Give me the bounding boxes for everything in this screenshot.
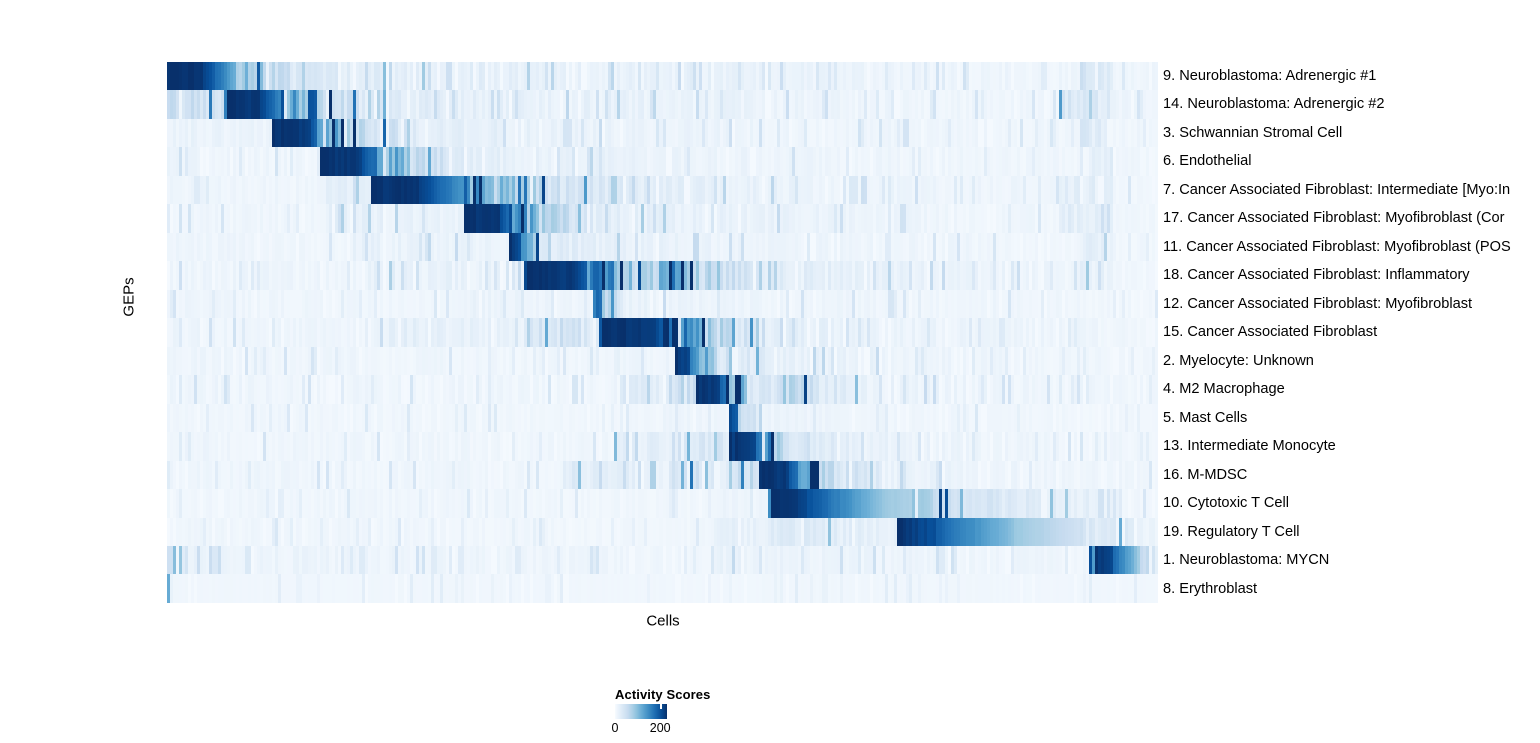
heatmap-figure: GEPs Cells 9. Neuroblastoma: Adrenergic … [0, 0, 1540, 743]
heatmap-row[interactable] [167, 90, 1158, 118]
heatmap-cell [1155, 404, 1158, 432]
heatmap-row[interactable] [167, 204, 1158, 232]
heatmap-row[interactable] [167, 147, 1158, 175]
heatmap-row[interactable] [167, 461, 1158, 489]
heatmap-row[interactable] [167, 290, 1158, 318]
heatmap-row[interactable] [167, 119, 1158, 147]
heatmap-cell [1155, 347, 1158, 375]
heatmap-cell [1155, 119, 1158, 147]
heatmap-row[interactable] [167, 318, 1158, 346]
heatmap-cell [1155, 432, 1158, 460]
heatmap-cell [1155, 461, 1158, 489]
heatmap-cell [1155, 90, 1158, 118]
heatmap-row[interactable] [167, 432, 1158, 460]
heatmap-row[interactable] [167, 261, 1158, 289]
heatmap-cell [1155, 318, 1158, 346]
heatmap-row[interactable] [167, 233, 1158, 261]
heatmap-row[interactable] [167, 176, 1158, 204]
heatmap-cell [1155, 204, 1158, 232]
heatmap-row[interactable] [167, 489, 1158, 517]
heatmap-row[interactable] [167, 347, 1158, 375]
heatmap-cell [1155, 147, 1158, 175]
heatmap-plot-area[interactable] [167, 62, 1158, 603]
heatmap-cell [1155, 176, 1158, 204]
heatmap-row[interactable] [167, 375, 1158, 403]
heatmap-cell [1155, 62, 1158, 90]
heatmap-cell [1155, 290, 1158, 318]
heatmap-cell [1155, 233, 1158, 261]
heatmap-row[interactable] [167, 404, 1158, 432]
heatmap-cell [1155, 375, 1158, 403]
heatmap-cell [1155, 261, 1158, 289]
heatmap-row[interactable] [167, 62, 1158, 90]
